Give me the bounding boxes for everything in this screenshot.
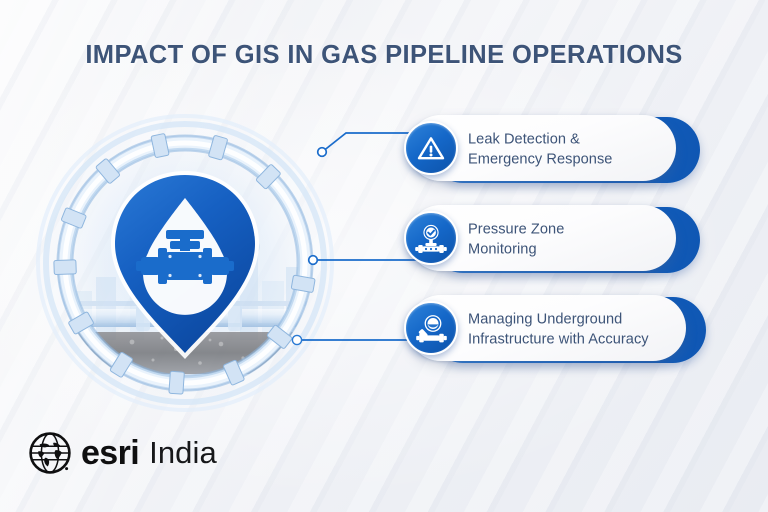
feature-card-pressure-zone[interactable]: Pressure Zone Monitoring: [408, 205, 700, 275]
card-label-line2: Emergency Response: [468, 150, 678, 170]
pressure-gauge-icon: [404, 211, 458, 265]
esri-globe-icon: [28, 430, 74, 476]
card-label-line2: Infrastructure with Accuracy: [468, 330, 700, 350]
card-label: Managing Underground Infrastructure with…: [468, 311, 700, 350]
card-label-line2: Monitoring: [468, 240, 678, 260]
warning-triangle-icon: [404, 121, 458, 175]
card-label: Leak Detection & Emergency Response: [468, 131, 678, 170]
page-title: IMPACT OF GIS IN GAS PIPELINE OPERATIONS: [0, 41, 768, 70]
card-label-line1: Leak Detection &: [468, 131, 678, 151]
logo-region-text: India: [149, 436, 217, 470]
card-label-line1: Pressure Zone: [468, 221, 678, 241]
logo-brand-text: esri: [81, 436, 139, 470]
card-label: Pressure Zone Monitoring: [468, 221, 678, 260]
card-label-line1: Managing Underground: [468, 311, 700, 331]
esri-india-logo: esri India: [28, 430, 217, 476]
infographic-canvas: IMPACT OF GIS IN GAS PIPELINE OPERATIONS: [0, 0, 768, 512]
feature-card-underground-infrastructure[interactable]: Managing Underground Infrastructure with…: [408, 295, 700, 365]
feature-card-leak-detection[interactable]: Leak Detection & Emergency Response: [408, 115, 700, 185]
gas-pipeline-ring-graphic: [10, 95, 360, 425]
magnifier-pipe-icon: [404, 301, 458, 355]
